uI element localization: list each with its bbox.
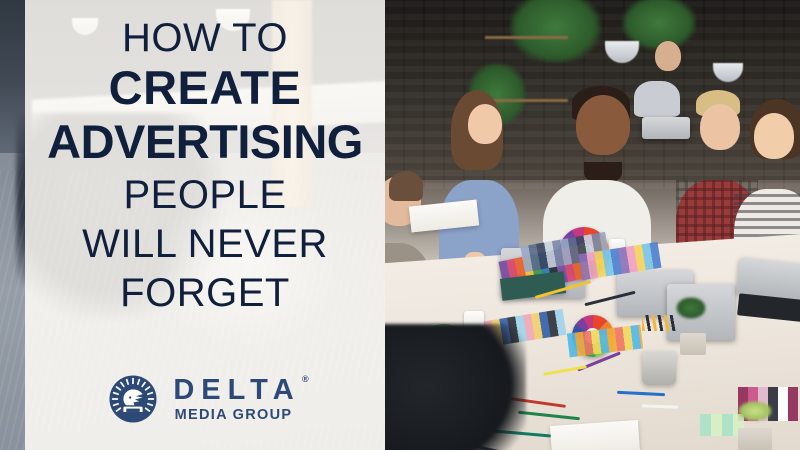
team-collaboration-photo xyxy=(385,0,800,450)
plant-pot xyxy=(738,428,772,450)
delta-media-group-logo[interactable]: DELTA® MEDIA GROUP xyxy=(25,368,385,430)
logo-tagline: MEDIA GROUP xyxy=(175,408,293,423)
shelf xyxy=(485,99,568,102)
cactus-icon xyxy=(738,401,772,421)
logo-wordmark: DELTA® MEDIA GROUP xyxy=(166,376,300,423)
person-hair xyxy=(389,171,423,201)
pencils-in-cup xyxy=(642,315,676,331)
headline-line-5: WILL NEVER xyxy=(82,224,328,264)
person-head xyxy=(468,104,502,144)
shelf xyxy=(485,36,568,39)
paper-sheet xyxy=(550,420,640,450)
headline-line-2: CREATE xyxy=(109,64,302,111)
blog-header-banner: HOW TO CREATE ADVERTISING PEOPLE WILL NE… xyxy=(0,0,800,450)
pencil-cup xyxy=(642,351,676,385)
registered-trademark-icon: ® xyxy=(302,375,309,384)
left-edge-tint-strip xyxy=(0,0,25,450)
laptop-icon xyxy=(642,117,690,139)
foreground-office-chair xyxy=(385,324,526,450)
headline-line-1: HOW TO xyxy=(122,18,288,58)
headline-line-6: FORGET xyxy=(120,273,290,313)
plant-pot xyxy=(680,333,706,355)
person-head xyxy=(754,113,794,159)
headline-line-3: ADVERTISING xyxy=(47,118,363,165)
person-torso xyxy=(634,81,680,117)
plant-icon xyxy=(510,0,601,63)
logo-brand-name: DELTA® xyxy=(166,376,300,405)
headline-line-4: PEOPLE xyxy=(123,175,286,215)
succulent-icon xyxy=(676,297,706,319)
logo-brand-text: DELTA xyxy=(173,374,300,406)
person-head xyxy=(655,41,681,71)
person-head xyxy=(576,95,630,155)
spartan-helmet-emblem-icon xyxy=(109,375,157,423)
person-head xyxy=(700,104,740,150)
